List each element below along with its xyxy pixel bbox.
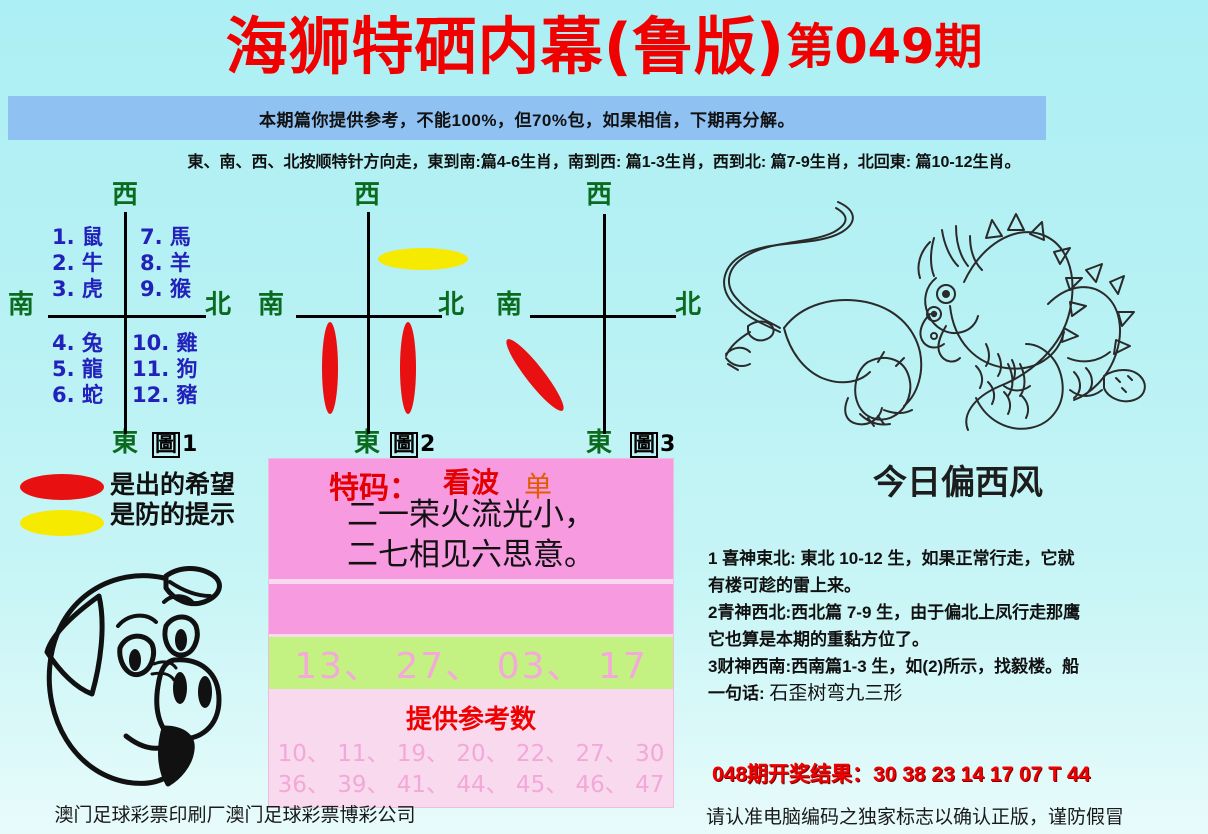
diagram3-label-south: 南	[496, 292, 522, 318]
diagram3-label-west: 西	[586, 182, 612, 208]
figure-index: 3	[660, 432, 675, 457]
diagram2-vertical-axis	[367, 212, 370, 434]
diagram2-figure-number: 圖2	[390, 432, 435, 458]
figure-index: 2	[420, 432, 435, 457]
forecast-numbers-row: 13、 27、 03、 17	[269, 637, 673, 689]
diagram2-horizontal-axis	[296, 315, 442, 318]
legend-red-label: 是出的希望	[110, 470, 235, 499]
one-phrase-value: 石歪树弯九三形	[769, 683, 902, 704]
zodiac-item: 5. 龍	[52, 356, 103, 382]
printer-footer: 澳门足球彩票印刷厂澳门足球彩票博彩公司	[0, 800, 470, 827]
marker-red-ellipse	[322, 322, 338, 414]
zodiac-item: 1. 鼠	[52, 224, 103, 250]
zodiac-item: 7. 馬	[140, 224, 191, 250]
zodiac-item: 2. 牛	[52, 250, 103, 276]
compass-diagram-2: 西 南 北 東 圖2	[250, 182, 480, 464]
legend-red-ellipse-icon	[20, 474, 104, 500]
zodiac-item: 6. 蛇	[52, 382, 103, 408]
zodiac-group-bottom-left: 4. 兔 5. 龍 6. 蛇	[52, 330, 103, 408]
diagram3-label-north: 北	[675, 292, 701, 318]
zodiac-group-top-right: 7. 馬 8. 羊 9. 猴	[140, 224, 191, 302]
marker-legend: 是出的希望 是防的提示	[14, 470, 274, 540]
explanation-line-1: 1 喜神束北: 東北 10-12 生，如果正常行走，它就	[708, 545, 1206, 572]
diagram3-vertical-axis	[603, 214, 606, 434]
diagram1-label-south: 南	[8, 292, 34, 318]
diagram1-horizontal-axis	[48, 315, 206, 318]
zodiac-group-top-left: 1. 鼠 2. 牛 3. 虎	[52, 224, 103, 302]
explanation-line-3: 2青神西北:西北篇 7-9 生，由于偏北上凤行走那鹰	[708, 599, 1206, 626]
previous-draw-result: 048期开奖结果：30 38 23 14 17 07 T 44	[712, 758, 1208, 788]
figure-box-glyph: 圖	[630, 432, 658, 458]
explanation-line-6: 一句话: 石歪树弯九三形	[708, 680, 1206, 707]
diagram3-horizontal-axis	[530, 315, 676, 318]
diagram2-label-west: 西	[354, 182, 380, 208]
forecast-numbers: 13、 27、 03、 17	[294, 637, 648, 689]
legend-yellow-ellipse-icon	[20, 510, 104, 536]
wind-heading: 今日偏西风	[718, 455, 1198, 499]
diagram1-vertical-axis	[124, 212, 127, 434]
zodiac-item: 11. 狗	[132, 356, 198, 382]
zodiac-item: 4. 兔	[52, 330, 103, 356]
compass-diagram-3: 西 南 北 東 圖3	[470, 182, 720, 464]
rat-and-dragon-illustration	[718, 186, 1208, 448]
explanation-block: 1 喜神束北: 東北 10-12 生，如果正常行走，它就 有楼可趁的雷上来。 2…	[708, 545, 1206, 707]
direction-rule: 東、南、西、北按顺特针方向走，東到南:篇4-6生肖，南到西: 篇1-3生肖，西到…	[0, 146, 1208, 174]
diagram3-label-east: 東	[586, 430, 612, 456]
notice-banner: 本期篇你提供参考，不能100%，但70%包，如果相信，下期再分解。	[8, 96, 1046, 140]
reference-numbers: 10、 11、 19、 20、 22、 27、 30 36、 39、 41、 4…	[269, 739, 673, 801]
zodiac-group-bottom-right: 10. 雞 11. 狗 12. 豬	[132, 330, 198, 408]
forecast-verse: 二一荣火流光小， 二七相见六思意。	[269, 495, 673, 575]
explanation-line-4: 它也算是本期的重黏方位了。	[708, 626, 1206, 653]
verse-line-2: 二七相见六思意。	[269, 535, 673, 575]
zodiac-item: 3. 虎	[52, 276, 103, 302]
reference-numbers-title: 提供参考数	[269, 699, 673, 736]
explanation-line-2: 有楼可趁的雷上来。	[708, 572, 1206, 599]
tema-value: 单	[524, 465, 552, 505]
figure-index: 1	[182, 432, 197, 457]
diagram1-label-west: 西	[112, 182, 138, 208]
title-issue: 第049期	[786, 23, 982, 71]
tema-row	[269, 584, 673, 634]
reference-numbers-line-1: 10、 11、 19、 20、 22、 27、 30	[269, 739, 673, 770]
figure-box-glyph: 圖	[390, 432, 418, 458]
authenticity-disclaimer: 请认准电脑编码之独家标志以确认正版，谨防假冒	[706, 802, 1206, 829]
marker-yellow-ellipse	[378, 248, 468, 270]
pig-illustration	[14, 560, 264, 808]
one-phrase-label: 一句话:	[708, 684, 769, 703]
poster-page: 海狮特硒内幕 (鲁版) 第049期 本期篇你提供参考，不能100%，但70%包，…	[0, 0, 1208, 834]
forecast-panel: 看波 二一荣火流光小， 二七相见六思意。 特码： 单 13、 27、 03、 1…	[268, 458, 674, 808]
tema-label: 特码：	[329, 463, 419, 507]
diagram1-figure-number: 圖1	[152, 432, 197, 458]
diagram3-figure-number: 圖3	[630, 432, 675, 458]
legend-yellow-label: 是防的提示	[110, 500, 235, 529]
title-edition: (鲁版)	[604, 16, 785, 78]
reference-numbers-line-2: 36、 39、 41、 44、 45、 46、 47	[269, 770, 673, 801]
notice-text: 本期篇你提供参考，不能100%，但70%包，如果相信，下期再分解。	[259, 106, 795, 131]
diagram2-label-south: 南	[258, 292, 284, 318]
direction-rule-text: 東、南、西、北按顺特针方向走，東到南:篇4-6生肖，南到西: 篇1-3生肖，西到…	[188, 148, 1021, 172]
title-main: 海狮特硒内幕	[226, 16, 604, 78]
zodiac-item: 8. 羊	[140, 250, 191, 276]
diagram1-label-north: 北	[205, 292, 231, 318]
figure-box-glyph: 圖	[152, 432, 180, 458]
zodiac-item: 12. 豬	[132, 382, 198, 408]
marker-red-ellipse	[400, 322, 416, 414]
zodiac-item: 9. 猴	[140, 276, 191, 302]
zodiac-item: 10. 雞	[132, 330, 198, 356]
explanation-line-5: 3财神西南:西南篇1-3 生，如(2)所示，找毅楼。船	[708, 653, 1206, 680]
compass-diagram-1: 西 南 北 東 1. 鼠 2. 牛 3. 虎 7. 馬 8. 羊 9. 猴 4.…	[0, 182, 260, 464]
page-title: 海狮特硒内幕 (鲁版) 第049期	[0, 4, 1208, 90]
marker-red-ellipse	[500, 334, 570, 416]
